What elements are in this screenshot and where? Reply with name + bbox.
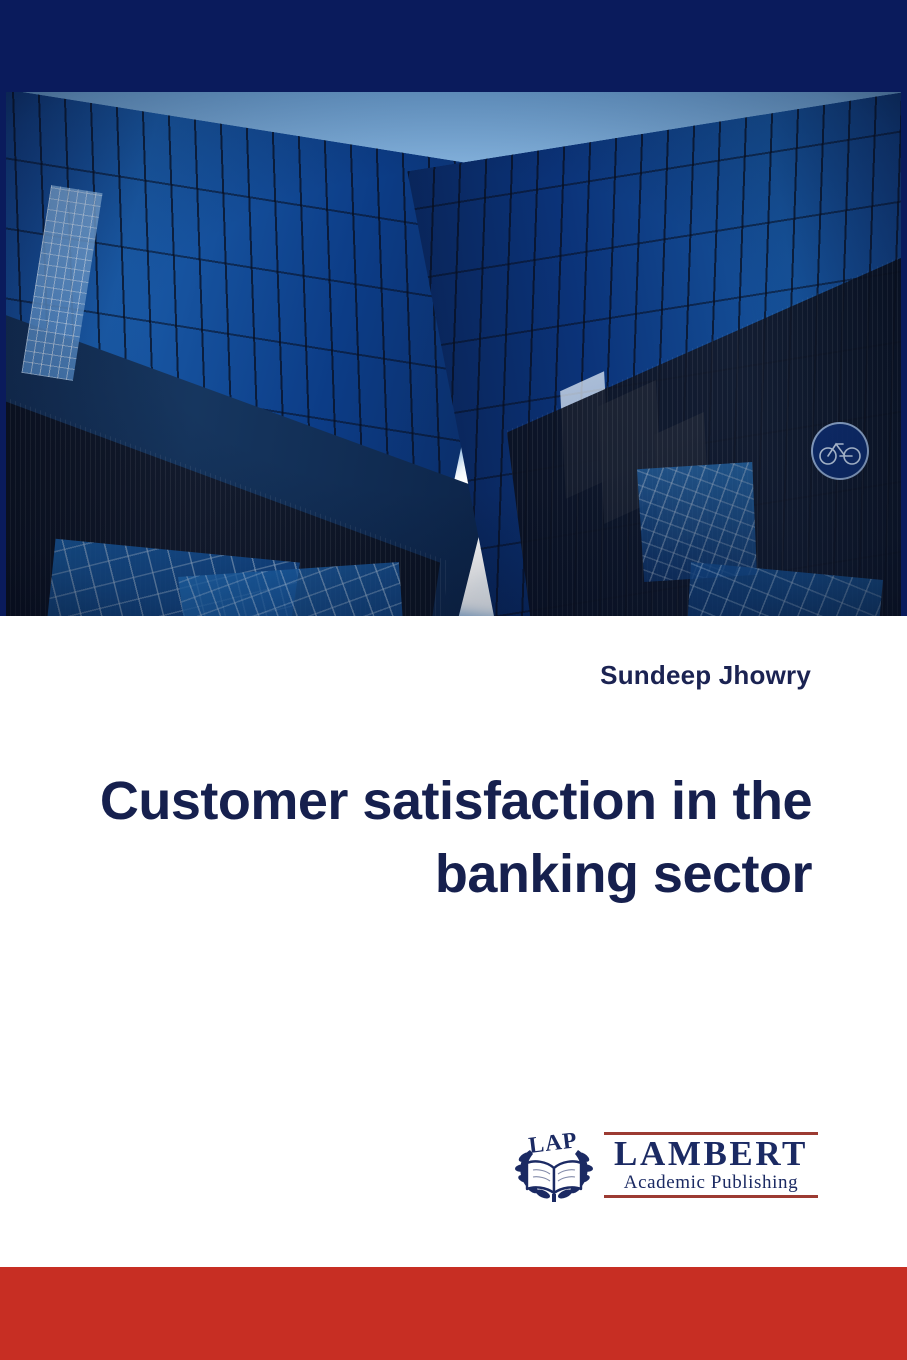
publisher-logo: LAP LAMBERT Academic Publishing [512, 1128, 818, 1206]
publisher-wordmark: LAMBERT Academic Publishing [604, 1132, 818, 1198]
book-title: Customer satisfaction in the banking sec… [72, 765, 812, 911]
bottom-red-band [0, 1267, 907, 1360]
cover-photograph [0, 92, 907, 616]
book-title-line-1: Customer satisfaction in the [72, 765, 812, 838]
publisher-tagline: Academic Publishing [604, 1172, 818, 1193]
lap-open-book-laurel-icon: LAP [512, 1130, 596, 1204]
bicycle-sign-icon [811, 422, 869, 480]
book-cover: Sundeep Jhowry Customer satisfaction in … [0, 0, 907, 1360]
author-name: Sundeep Jhowry [600, 660, 811, 691]
svg-text:LAP: LAP [527, 1130, 579, 1158]
top-navy-band [0, 0, 907, 92]
book-title-line-2: banking sector [72, 838, 812, 911]
publisher-name: LAMBERT [604, 1136, 818, 1172]
logo-rule-bottom [604, 1195, 818, 1198]
photograph-canvas [0, 92, 907, 616]
